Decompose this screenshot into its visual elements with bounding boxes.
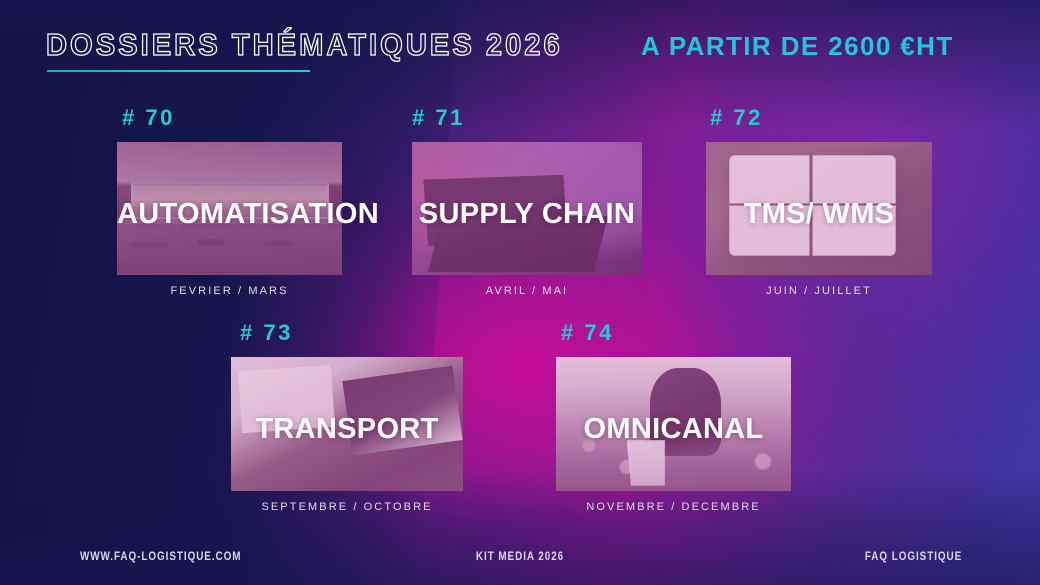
card-caption: AVRIL / MAI — [412, 285, 642, 297]
card-caption: JUIN / JUILLET — [706, 285, 932, 297]
slide-header: DOSSIERS THÉMATIQUES 2026 A PARTIR DE 26… — [0, 0, 1040, 95]
card-number: # 71 — [412, 105, 465, 131]
card-label: TRANSPORT — [231, 413, 463, 446]
footer-kit-media: KIT MEDIA 2026 — [476, 551, 564, 563]
card-label: SUPPLY CHAIN — [412, 198, 642, 231]
background-bottom-shade — [0, 468, 1040, 585]
card-caption: FEVRIER / MARS — [117, 285, 342, 297]
footer-brand: FAQ LOGISTIQUE — [865, 551, 962, 563]
footer-website[interactable]: WWW.FAQ-LOGISTIQUE.COM — [80, 551, 241, 563]
card-number: # 74 — [561, 320, 614, 346]
card-label: OMNICANAL — [556, 413, 791, 446]
price-heading: A PARTIR DE 2600 €HT — [641, 31, 954, 62]
card-number: # 73 — [240, 320, 293, 346]
title-underline-rule — [47, 70, 310, 72]
card-caption: NOVEMBRE / DECEMBRE — [556, 501, 791, 513]
page-title: DOSSIERS THÉMATIQUES 2026 — [46, 27, 563, 63]
card-number: # 70 — [122, 105, 175, 131]
card-label: TMS/ WMS — [706, 198, 932, 231]
card-label: AUTOMATISATION — [117, 198, 342, 231]
card-number: # 72 — [710, 105, 763, 131]
card-caption: SEPTEMBRE / OCTOBRE — [231, 501, 463, 513]
slide-canvas: DOSSIERS THÉMATIQUES 2026 A PARTIR DE 26… — [0, 0, 1040, 585]
